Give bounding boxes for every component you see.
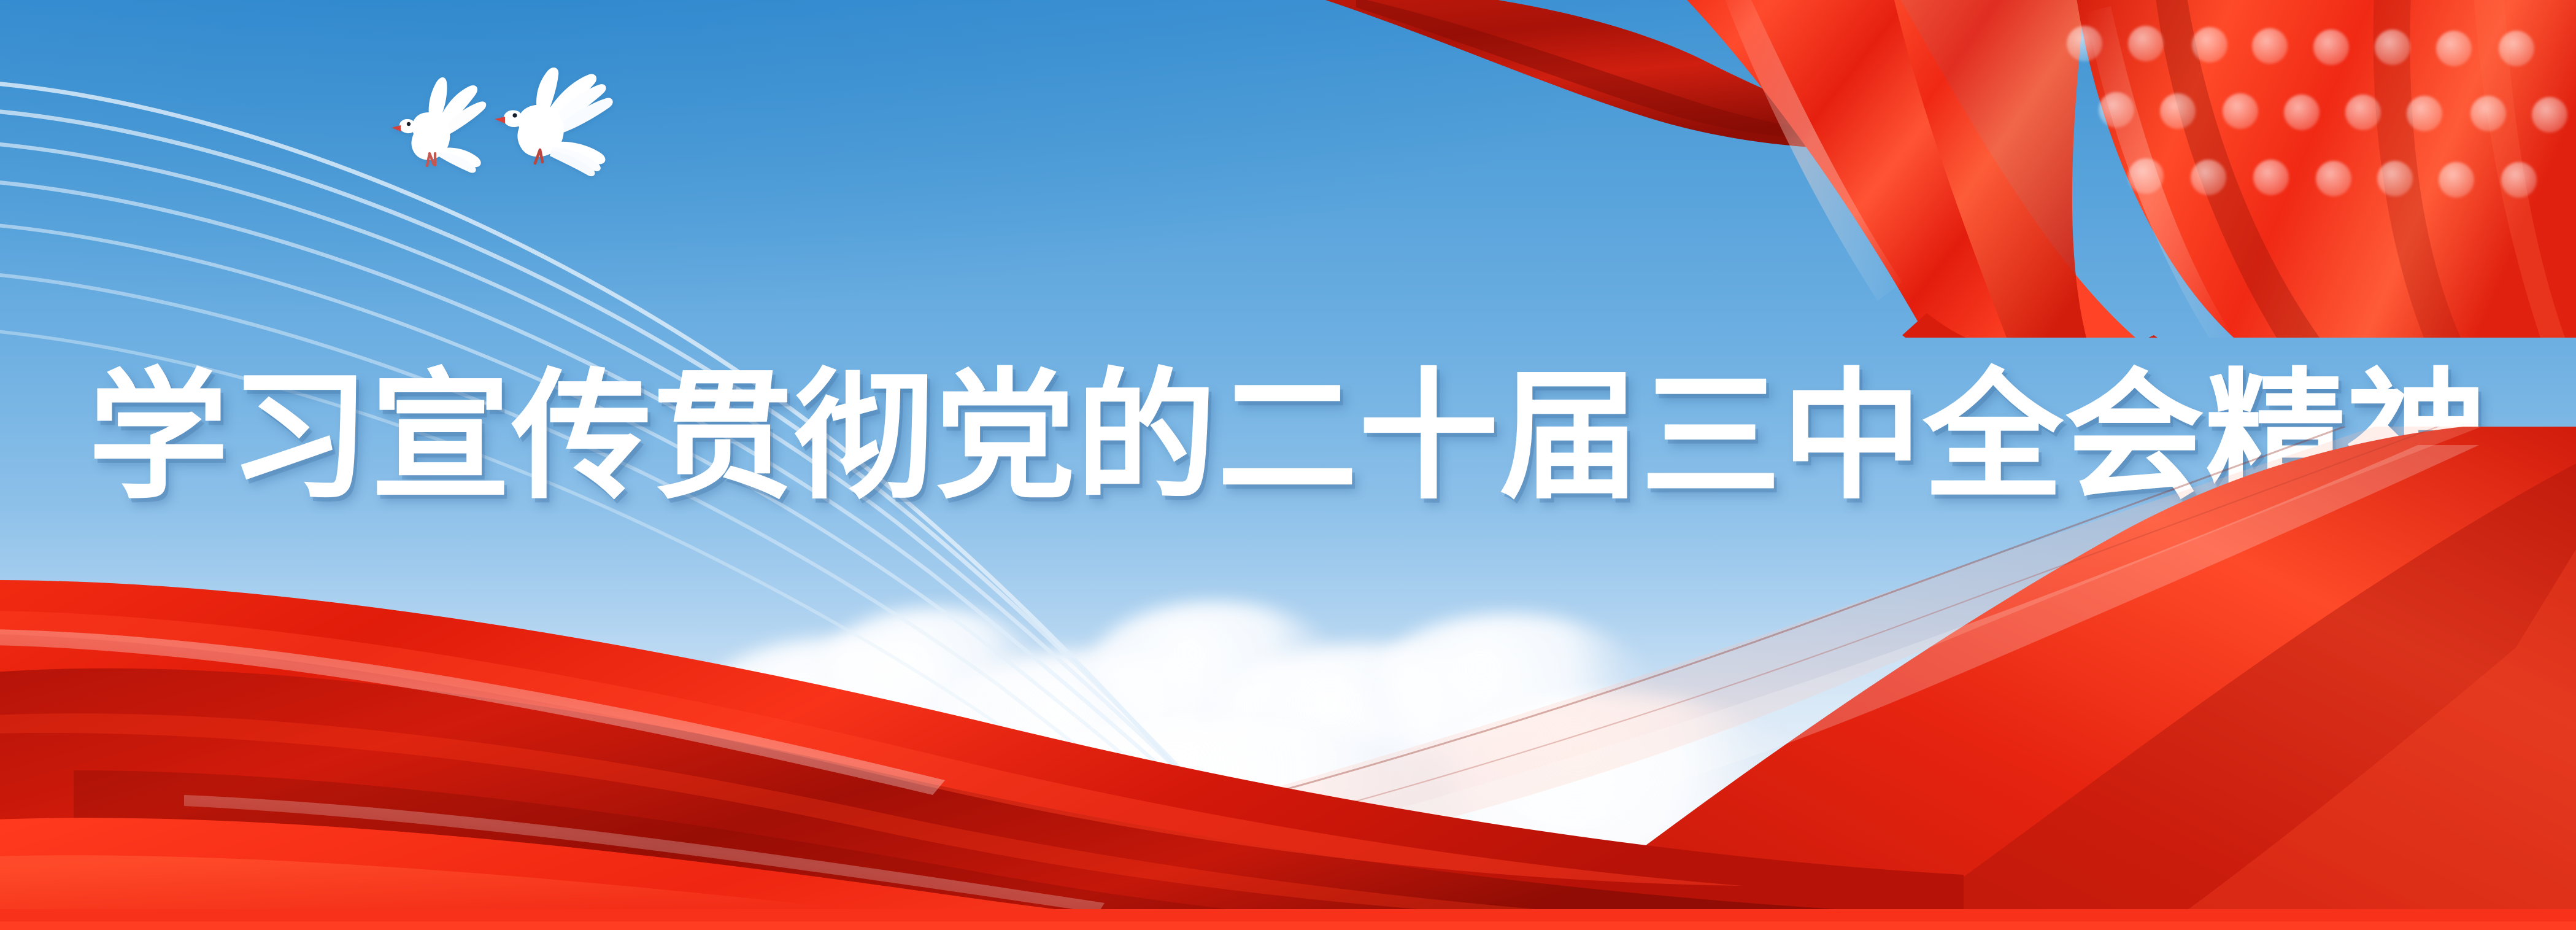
dove-icon [466, 68, 632, 190]
red-ribbon-decoration [1276, 0, 2576, 338]
banner-canvas: 学习宣传贯彻党的二十届三中全会精神 [0, 0, 2576, 930]
red-wave-decoration [0, 427, 2576, 930]
